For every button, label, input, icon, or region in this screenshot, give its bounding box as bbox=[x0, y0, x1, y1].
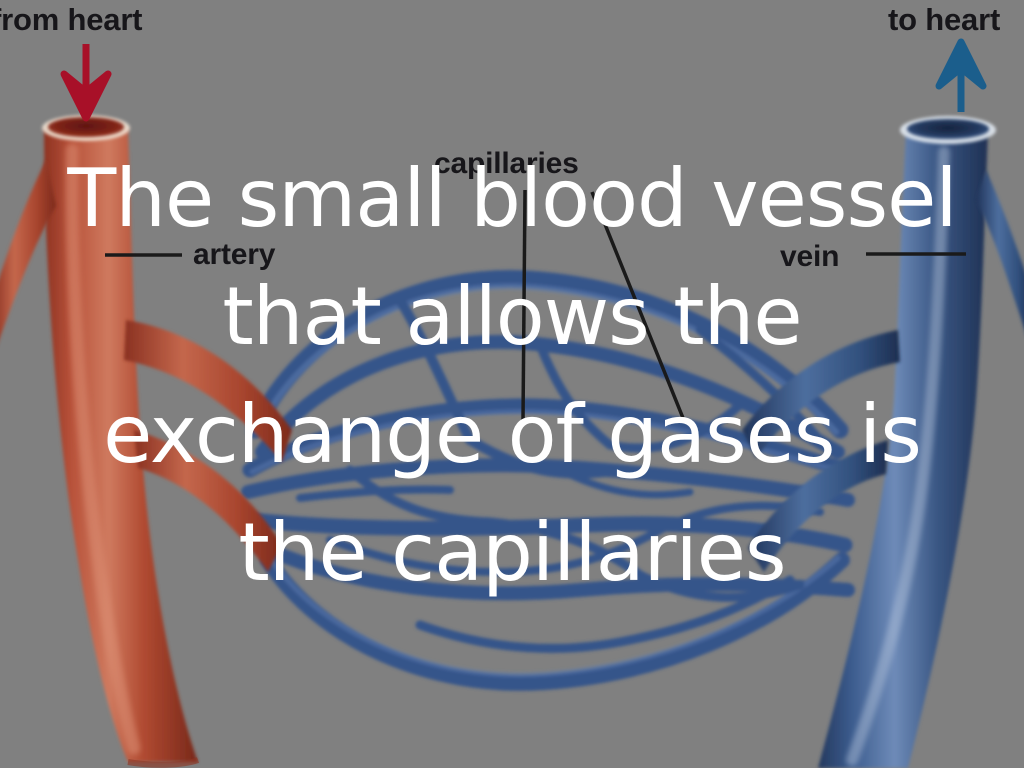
slide-canvas: from heart to heart artery vein capillar… bbox=[0, 0, 1024, 768]
label-vein: vein bbox=[780, 240, 839, 274]
capillaries-leader-line-1 bbox=[523, 190, 525, 420]
label-capillaries: capillaries bbox=[434, 147, 579, 181]
vein-lumen bbox=[907, 119, 989, 139]
label-artery: artery bbox=[193, 238, 275, 272]
label-to-heart: to heart bbox=[888, 2, 1000, 38]
label-from-heart: from heart bbox=[0, 2, 142, 38]
blood-vessel-diagram bbox=[0, 0, 1024, 768]
